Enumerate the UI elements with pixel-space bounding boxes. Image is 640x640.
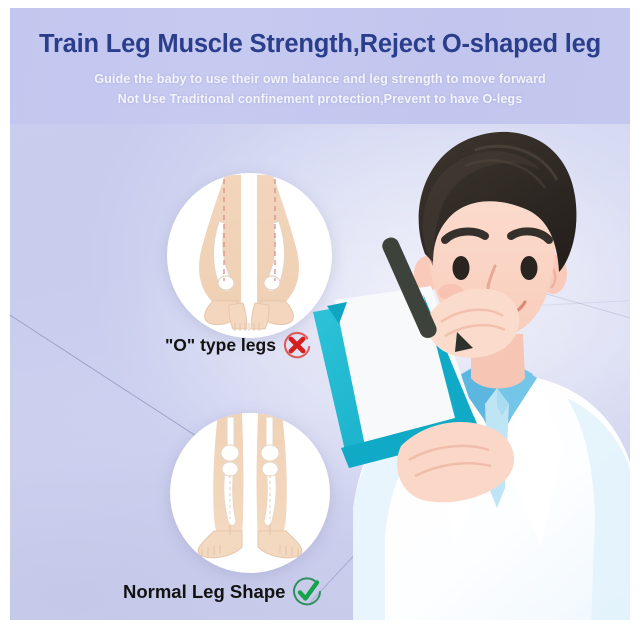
subtitle-line-1: Guide the baby to use their own balance … <box>10 72 630 86</box>
check-mark-icon <box>291 576 323 608</box>
normal-legs-caption: Normal Leg Shape <box>123 576 323 608</box>
subtitle-line-2: Not Use Traditional confinement protecti… <box>10 92 630 106</box>
page-title: Train Leg Muscle Strength,Reject O-shape… <box>10 30 630 59</box>
normal-legs-illustration <box>170 413 330 573</box>
cross-mark-icon <box>282 330 312 360</box>
o-type-legs-illustration <box>167 173 332 338</box>
o-type-legs-label: "O" type legs <box>165 335 276 356</box>
o-type-legs-caption: "O" type legs <box>165 330 312 360</box>
poster-canvas: Train Leg Muscle Strength,Reject O-shape… <box>10 8 630 620</box>
doctor-eye-left <box>453 256 470 280</box>
poster-root: Train Leg Muscle Strength,Reject O-shape… <box>0 0 640 640</box>
doctor-illustration <box>305 116 630 620</box>
normal-legs-label: Normal Leg Shape <box>123 581 285 603</box>
doctor-eye-right <box>521 256 538 280</box>
header-banner: Train Leg Muscle Strength,Reject O-shape… <box>10 8 630 124</box>
